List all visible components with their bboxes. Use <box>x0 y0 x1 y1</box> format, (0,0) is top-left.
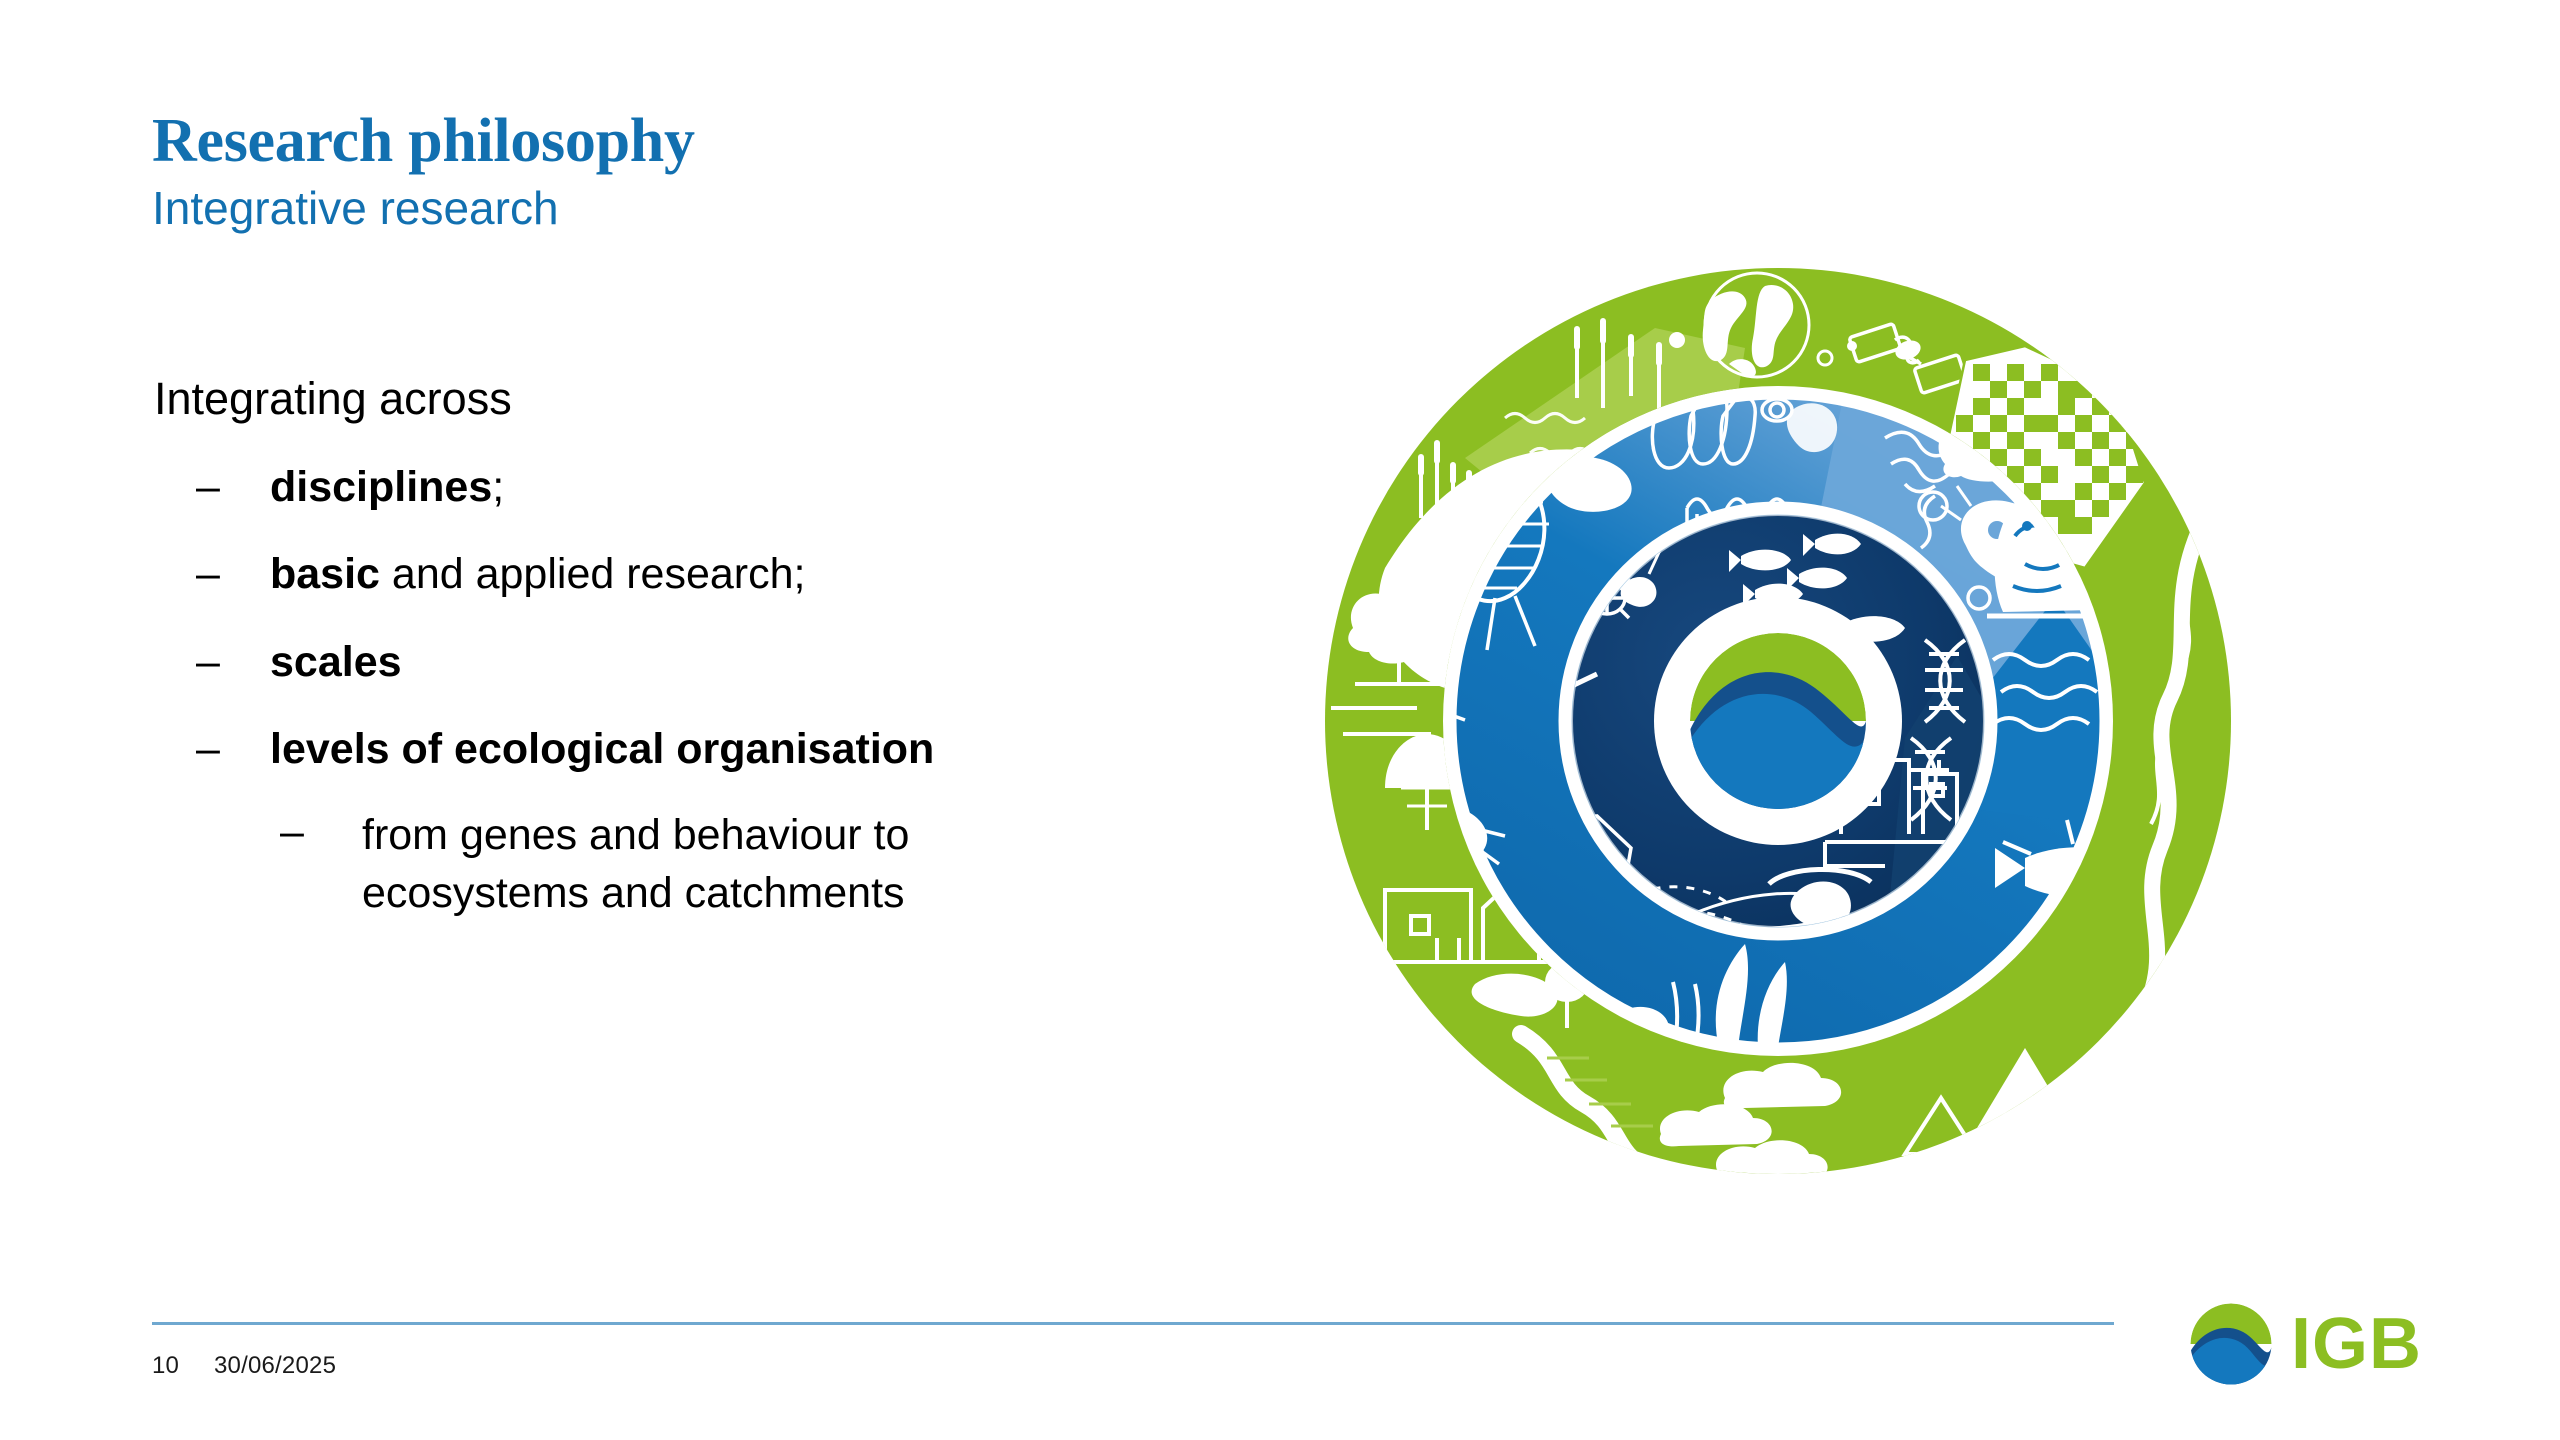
slide-canvas: Research philosophy Integrative research… <box>0 0 2560 1440</box>
wheel-svg <box>1325 268 2231 1174</box>
igb-logo-text: IGB <box>2291 1308 2422 1380</box>
page-number: 10 <box>152 1352 214 1380</box>
sub-bullet-line-1: from genes and behaviour to <box>362 811 909 859</box>
list-item: – levels of ecological organisation – fr… <box>152 723 1272 922</box>
list-item: – basic and applied research; <box>152 548 1272 601</box>
core-igb-logo <box>1654 597 1902 845</box>
bullet-rest-text: and applied research; <box>380 550 806 598</box>
bullet-dash-icon: – <box>196 548 230 601</box>
bullet-rest-text: ; <box>492 463 504 511</box>
dot <box>1669 332 1685 348</box>
integrative-research-wheel-graphic <box>1325 268 2231 1174</box>
bullet-bold-text: scales <box>270 638 402 686</box>
sub-bullet-list: – from genes and behaviour to ecosystems… <box>270 806 1272 922</box>
igb-logo-mark-icon <box>2187 1300 2275 1388</box>
footer-divider <box>152 1322 2114 1325</box>
footer-date: 30/06/2025 <box>214 1352 336 1379</box>
igb-logo: IGB <box>2187 1300 2422 1388</box>
content-body: Integrating across – disciplines; – basi… <box>152 372 1272 922</box>
footer-meta: 1030/06/2025 <box>152 1352 336 1380</box>
bullet-bold-text: basic <box>270 550 380 598</box>
bullet-list: – disciplines; – basic and applied resea… <box>152 461 1272 922</box>
page-title: Research philosophy <box>152 110 1252 173</box>
slide-header: Research philosophy Integrative research <box>152 110 1252 234</box>
bullet-dash-icon: – <box>196 723 230 776</box>
bullet-bold-text: levels of ecological organisation <box>270 725 934 773</box>
sub-bullet-dash-icon: – <box>280 806 314 859</box>
sub-list-item: – from genes and behaviour to ecosystems… <box>270 806 1272 922</box>
lead-text: Integrating across <box>154 372 1272 427</box>
list-item: – scales <box>152 636 1272 689</box>
bullet-dash-icon: – <box>196 636 230 689</box>
list-item: – disciplines; <box>152 461 1272 514</box>
bullet-bold-text: disciplines <box>270 463 492 511</box>
page-subtitle: Integrative research <box>152 183 1252 234</box>
bullet-dash-icon: – <box>196 461 230 514</box>
sub-bullet-line-2: ecosystems and catchments <box>362 869 905 917</box>
